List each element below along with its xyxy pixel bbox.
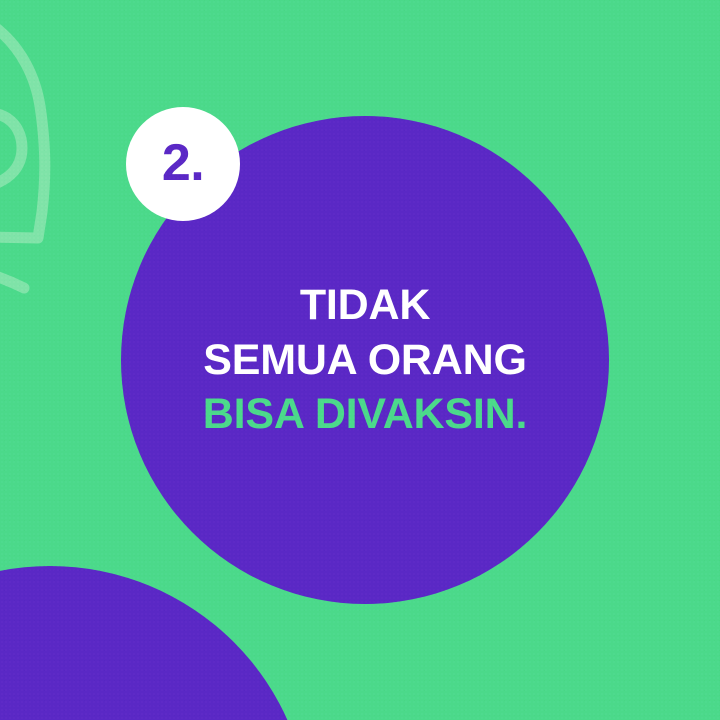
step-number-badge: 2. xyxy=(126,107,240,221)
social-card-slide: TIDAK SEMUA ORANG BISA DIVAKSIN. 2. xyxy=(0,0,720,720)
headline-line-2: SEMUA ORANG xyxy=(203,333,527,388)
headline-line-3: BISA DIVAKSIN. xyxy=(203,387,528,442)
hand-outline-icon xyxy=(0,0,122,296)
headline-line-1: TIDAK xyxy=(300,278,430,333)
step-number-label: 2. xyxy=(162,137,204,189)
